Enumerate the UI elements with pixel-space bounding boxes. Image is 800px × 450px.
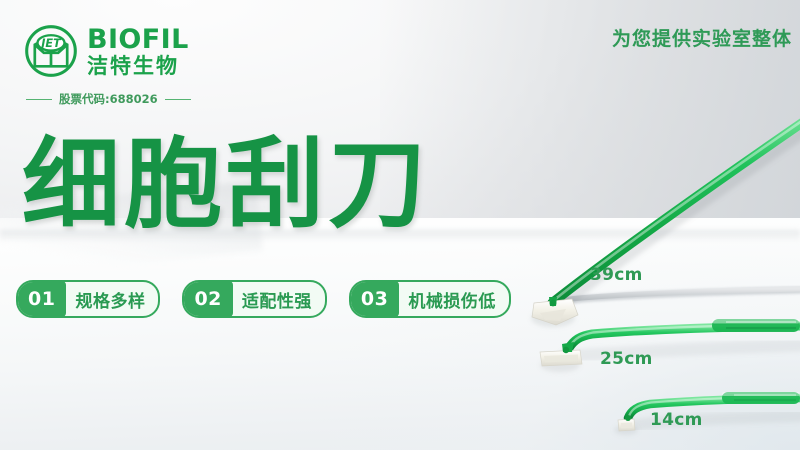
brand-name-cn: 洁特生物 [87, 56, 189, 77]
feature-badge-02[interactable]: 02 适配性强 [182, 280, 326, 318]
brand-logo-block: JET BIOFIL 洁特生物 股票代码:688026 [24, 24, 264, 107]
feature-badge-03-label: 机械损伤低 [399, 282, 509, 316]
floor-tint [240, 230, 800, 450]
logo-row: JET BIOFIL 洁特生物 [24, 24, 264, 78]
feature-badge-02-number: 02 [183, 281, 232, 317]
slogan-text: 为您提供实验室整体 [612, 24, 792, 51]
jet-hexagon-circle-logo-icon: JET [24, 24, 78, 78]
feature-badge-02-label: 适配性强 [233, 282, 325, 316]
feature-badge-list: 01 规格多样 02 适配性强 03 机械损伤低 [16, 280, 511, 318]
dimension-label-14cm: 14cm [650, 410, 703, 430]
feature-badge-01-label: 规格多样 [66, 282, 158, 316]
stock-code-row: 股票代码:688026 [24, 91, 264, 107]
dimension-label-39cm: 39cm [590, 265, 643, 285]
product-banner: 39cm 25cm 14cm JET BIOFIL 洁特生物 股票代码:6880… [0, 0, 800, 450]
page-title: 细胞刮刀 [22, 136, 430, 234]
logo-mark-text: JET [39, 37, 62, 50]
stock-code-text: 股票代码:688026 [59, 91, 158, 107]
brand-name-en: BIOFIL [87, 26, 189, 53]
stock-rule-left [26, 99, 52, 100]
feature-badge-03[interactable]: 03 机械损伤低 [349, 280, 511, 318]
dimension-label-25cm: 25cm [600, 349, 653, 369]
feature-badge-03-number: 03 [350, 281, 399, 317]
stock-rule-right [165, 99, 191, 100]
logo-wordmark: BIOFIL 洁特生物 [87, 26, 189, 77]
feature-badge-01[interactable]: 01 规格多样 [16, 280, 160, 318]
feature-badge-01-number: 01 [17, 281, 66, 317]
